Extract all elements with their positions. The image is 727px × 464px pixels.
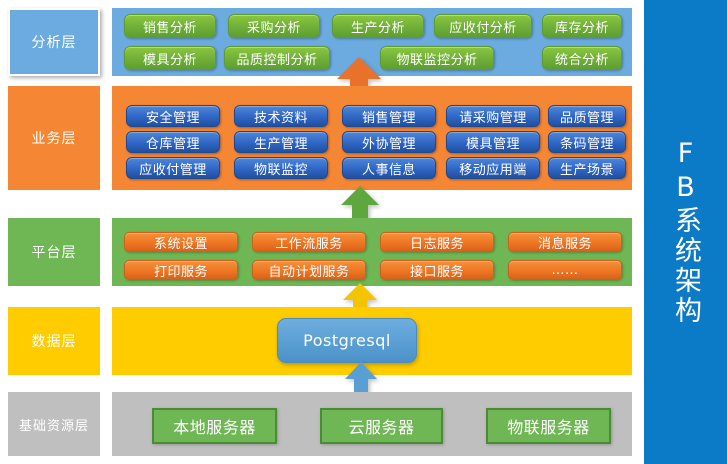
chip-business-production[interactable]: 生产管理 [234, 131, 328, 153]
chip-label: 生产分析 [351, 17, 405, 36]
chip-label: 应收付管理 [139, 159, 207, 178]
chip-label: 打印服务 [154, 261, 208, 280]
chip-label: 品质控制分析 [236, 49, 317, 68]
layer-label-analysis-text: 分析层 [32, 32, 77, 52]
chip-platform-more[interactable]: …… [508, 260, 622, 280]
chip-label: 生产场景 [560, 159, 614, 178]
chip-label: 生产管理 [254, 133, 308, 152]
chip-label: 品质管理 [560, 107, 614, 126]
chip-label: 库存分析 [555, 17, 609, 36]
chip-business-iot[interactable]: 物联监控 [234, 157, 328, 179]
chip-label: 采购分析 [247, 17, 301, 36]
chip-analysis-production[interactable]: 生产分析 [332, 14, 424, 38]
chip-label: 人事信息 [362, 159, 416, 178]
chip-business-tech-doc[interactable]: 技术资料 [234, 105, 328, 127]
chip-label: 本地服务器 [173, 414, 256, 438]
layer-label-platform: 平台层 [8, 218, 100, 286]
chip-business-receivable[interactable]: 应收付管理 [126, 157, 220, 179]
chip-label: Postgresql [303, 331, 391, 350]
chip-platform-auto-plan[interactable]: 自动计划服务 [252, 260, 366, 280]
layer-label-data: 数据层 [8, 307, 100, 375]
layer-label-business: 业务层 [8, 86, 100, 190]
chip-platform-message[interactable]: 消息服务 [508, 232, 622, 252]
chip-business-warehouse[interactable]: 仓库管理 [126, 131, 220, 153]
chip-business-quality[interactable]: 品质管理 [548, 105, 626, 127]
chip-label: 系统设置 [154, 233, 208, 252]
chip-label: 安全管理 [146, 107, 200, 126]
chip-business-outsource[interactable]: 外协管理 [342, 131, 436, 153]
chip-base-local-server[interactable]: 本地服务器 [152, 408, 277, 444]
chip-label: 云服务器 [348, 414, 414, 438]
chip-label: 仓库管理 [146, 133, 200, 152]
layer-label-platform-text: 平台层 [32, 242, 77, 262]
chip-base-iot-server[interactable]: 物联服务器 [486, 408, 611, 444]
chip-platform-system-settings[interactable]: 系统设置 [124, 232, 238, 252]
chip-label: 物联服务器 [507, 414, 590, 438]
chip-label: 销售管理 [362, 107, 416, 126]
chip-analysis-overall[interactable]: 统合分析 [542, 46, 622, 70]
chip-analysis-iot[interactable]: 物联监控分析 [380, 46, 494, 70]
chip-analysis-mould[interactable]: 模具分析 [124, 46, 216, 70]
chip-business-mobile[interactable]: 移动应用端 [446, 157, 540, 179]
layer-label-base: 基础资源层 [8, 392, 100, 456]
chip-label: 物联监控 [254, 159, 308, 178]
chip-label: 工作流服务 [275, 233, 343, 252]
layer-body-platform: 系统设置 工作流服务 日志服务 消息服务 打印服务 自动计划服务 接口服务 …… [112, 218, 632, 286]
layer-label-data-text: 数据层 [32, 331, 77, 351]
chip-analysis-inventory[interactable]: 库存分析 [542, 14, 622, 38]
chip-platform-log[interactable]: 日志服务 [380, 232, 494, 252]
chip-business-security[interactable]: 安全管理 [126, 105, 220, 127]
chip-label: 自动计划服务 [268, 261, 349, 280]
chip-business-purchase[interactable]: 请采购管理 [446, 105, 540, 127]
chip-business-barcode[interactable]: 条码管理 [548, 131, 626, 153]
chip-label: 技术资料 [254, 107, 308, 126]
layer-label-analysis: 分析层 [8, 8, 100, 76]
chip-label: 统合分析 [555, 49, 609, 68]
chip-analysis-sales[interactable]: 销售分析 [124, 14, 216, 38]
layer-label-business-text: 业务层 [32, 128, 77, 148]
chip-label: 移动应用端 [459, 159, 527, 178]
chip-business-hr[interactable]: 人事信息 [342, 157, 436, 179]
arrow-platform-to-business [341, 186, 379, 222]
system-architecture-title: FB系统架构 [666, 138, 705, 326]
chip-label: 销售分析 [143, 17, 197, 36]
chip-business-sales[interactable]: 销售管理 [342, 105, 436, 127]
chip-label: 条码管理 [560, 133, 614, 152]
chip-base-cloud-server[interactable]: 云服务器 [320, 408, 443, 444]
chip-label: 模具管理 [466, 133, 520, 152]
chip-label: 消息服务 [538, 233, 592, 252]
chip-label: 接口服务 [410, 261, 464, 280]
chip-analysis-purchase[interactable]: 采购分析 [228, 14, 320, 38]
chip-platform-interface[interactable]: 接口服务 [380, 260, 494, 280]
layer-body-base: 本地服务器 云服务器 物联服务器 [112, 392, 632, 456]
chip-analysis-receivable[interactable]: 应收付分析 [434, 14, 532, 38]
chip-label: 应收付分析 [449, 17, 517, 36]
chip-business-shopfloor[interactable]: 生产场景 [548, 157, 626, 179]
chip-platform-print[interactable]: 打印服务 [124, 260, 238, 280]
system-architecture-title-bar: FB系统架构 [644, 0, 727, 464]
layer-label-base-text: 基础资源层 [19, 415, 89, 434]
chip-label: 日志服务 [410, 233, 464, 252]
chip-label: …… [552, 263, 579, 278]
chip-data-postgresql[interactable]: Postgresql [277, 318, 417, 363]
chip-label: 请采购管理 [459, 107, 527, 126]
architecture-diagram: 分析层 销售分析 采购分析 生产分析 应收付分析 库存分析 模具分析 品质控制分… [0, 0, 727, 464]
chip-label: 物联监控分析 [396, 49, 477, 68]
chip-platform-workflow[interactable]: 工作流服务 [252, 232, 366, 252]
chip-business-mould[interactable]: 模具管理 [446, 131, 540, 153]
chip-label: 模具分析 [143, 49, 197, 68]
layer-body-business: 安全管理 技术资料 销售管理 请采购管理 品质管理 仓库管理 生产管理 外协管理… [112, 86, 632, 190]
chip-analysis-quality[interactable]: 品质控制分析 [224, 46, 330, 70]
chip-label: 外协管理 [362, 133, 416, 152]
